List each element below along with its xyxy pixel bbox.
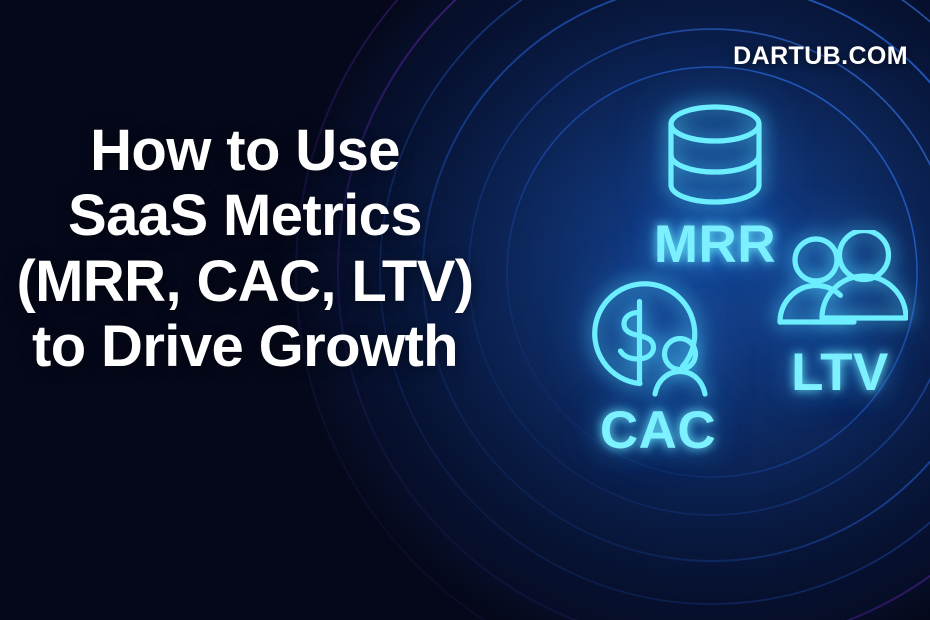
dollar-circle-person-icon [558, 270, 758, 400]
two-people-icon [745, 230, 930, 342]
metric-icon-cluster: MRR CAC [500, 70, 930, 490]
banner-canvas: DARTUB.COM How to Use SaaS Metrics (MRR,… [0, 0, 930, 620]
metric-ltv-label: LTV [745, 342, 930, 403]
page-title: How to Use SaaS Metrics (MRR, CAC, LTV) … [0, 118, 490, 379]
metric-cac: CAC [558, 270, 758, 461]
title-line-3: (MRR, CAC, LTV) [0, 249, 490, 314]
title-line-1: How to Use [0, 118, 490, 183]
database-stack-icon [620, 100, 810, 212]
metric-ltv: LTV [745, 230, 930, 403]
metric-cac-label: CAC [558, 400, 758, 461]
title-line-4: to Drive Growth [0, 314, 490, 379]
brand-watermark: DARTUB.COM [733, 42, 908, 71]
title-line-2: SaaS Metrics [0, 183, 490, 248]
